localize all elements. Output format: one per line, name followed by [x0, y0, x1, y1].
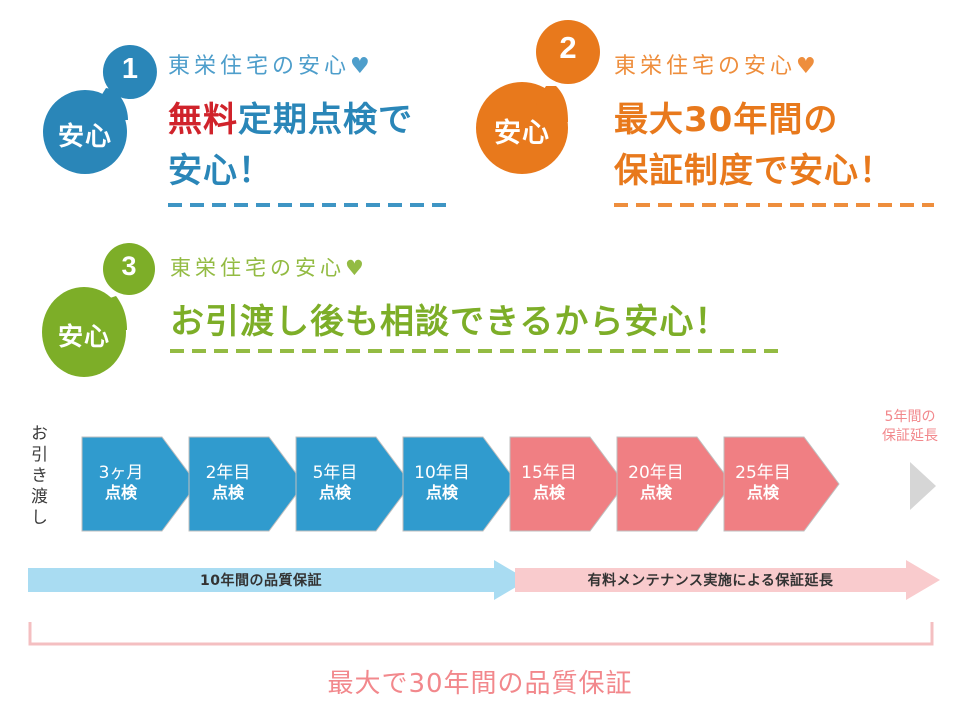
quality-guarantee-bar-label: 10年間の品質保証: [28, 560, 494, 600]
milestone-line1-2: 2年目: [206, 463, 251, 483]
timeline-start-label: お引き渡し: [28, 424, 45, 529]
milestone-line2-6: 点検: [640, 483, 672, 502]
milestone-label-5: 15年目 点検: [508, 435, 590, 530]
quality-guarantee-bar: 10年間の品質保証: [28, 560, 528, 600]
milestone-line1-1: 3ヶ月: [99, 463, 144, 483]
milestone-line2-1: 点検: [105, 483, 137, 502]
milestone-line2-7: 点検: [747, 483, 779, 502]
total-guarantee-caption: 最大で30年間の品質保証: [0, 663, 960, 700]
milestone-label-1: 3ヶ月 点検: [80, 435, 162, 530]
milestone-line1-3: 5年目: [313, 463, 358, 483]
timeline-milestone-1[interactable]: 3ヶ月 点検: [80, 435, 198, 530]
timeline-milestone-5[interactable]: 15年目 点検: [508, 435, 626, 530]
total-span-bracket: [28, 620, 934, 646]
extension-guarantee-bar-label: 有料メンテナンス実施による保証延長: [515, 560, 906, 600]
milestone-line1-5: 15年目: [521, 463, 577, 483]
milestone-label-7: 25年目 点検: [722, 435, 804, 530]
extension-note-line1: 5年間の: [885, 409, 936, 425]
milestone-label-2: 2年目 点検: [187, 435, 269, 530]
milestone-line2-5: 点検: [533, 483, 565, 502]
extension-arrow-icon: [908, 460, 938, 512]
timeline-milestone-2[interactable]: 2年目 点検: [187, 435, 305, 530]
timeline-section: お引き渡し 3ヶ月 点検 2年目 点検 5年目 点検: [0, 0, 960, 720]
infographic-canvas: 1 安心 東栄住宅の安心♥ 無料定期点検で 安心！ 2 安心 東栄住宅の安心♥ …: [0, 0, 960, 720]
milestone-label-6: 20年目 点検: [615, 435, 697, 530]
timeline-milestone-6[interactable]: 20年目 点検: [615, 435, 733, 530]
milestone-line1-4: 10年目: [414, 463, 470, 483]
milestone-label-3: 5年目 点検: [294, 435, 376, 530]
timeline-milestone-3[interactable]: 5年目 点検: [294, 435, 412, 530]
extension-guarantee-bar: 有料メンテナンス実施による保証延長: [515, 560, 940, 600]
milestone-line2-2: 点検: [212, 483, 244, 502]
milestone-label-4: 10年目 点検: [401, 435, 483, 530]
milestone-line1-6: 20年目: [628, 463, 684, 483]
extension-note: 5年間の 保証延長: [862, 408, 958, 446]
extension-note-line2: 保証延長: [882, 428, 938, 444]
milestone-line2-4: 点検: [426, 483, 458, 502]
milestone-line2-3: 点検: [319, 483, 351, 502]
timeline-milestone-7[interactable]: 25年目 点検: [722, 435, 840, 530]
milestone-line1-7: 25年目: [735, 463, 791, 483]
timeline-milestone-4[interactable]: 10年目 点検: [401, 435, 519, 530]
